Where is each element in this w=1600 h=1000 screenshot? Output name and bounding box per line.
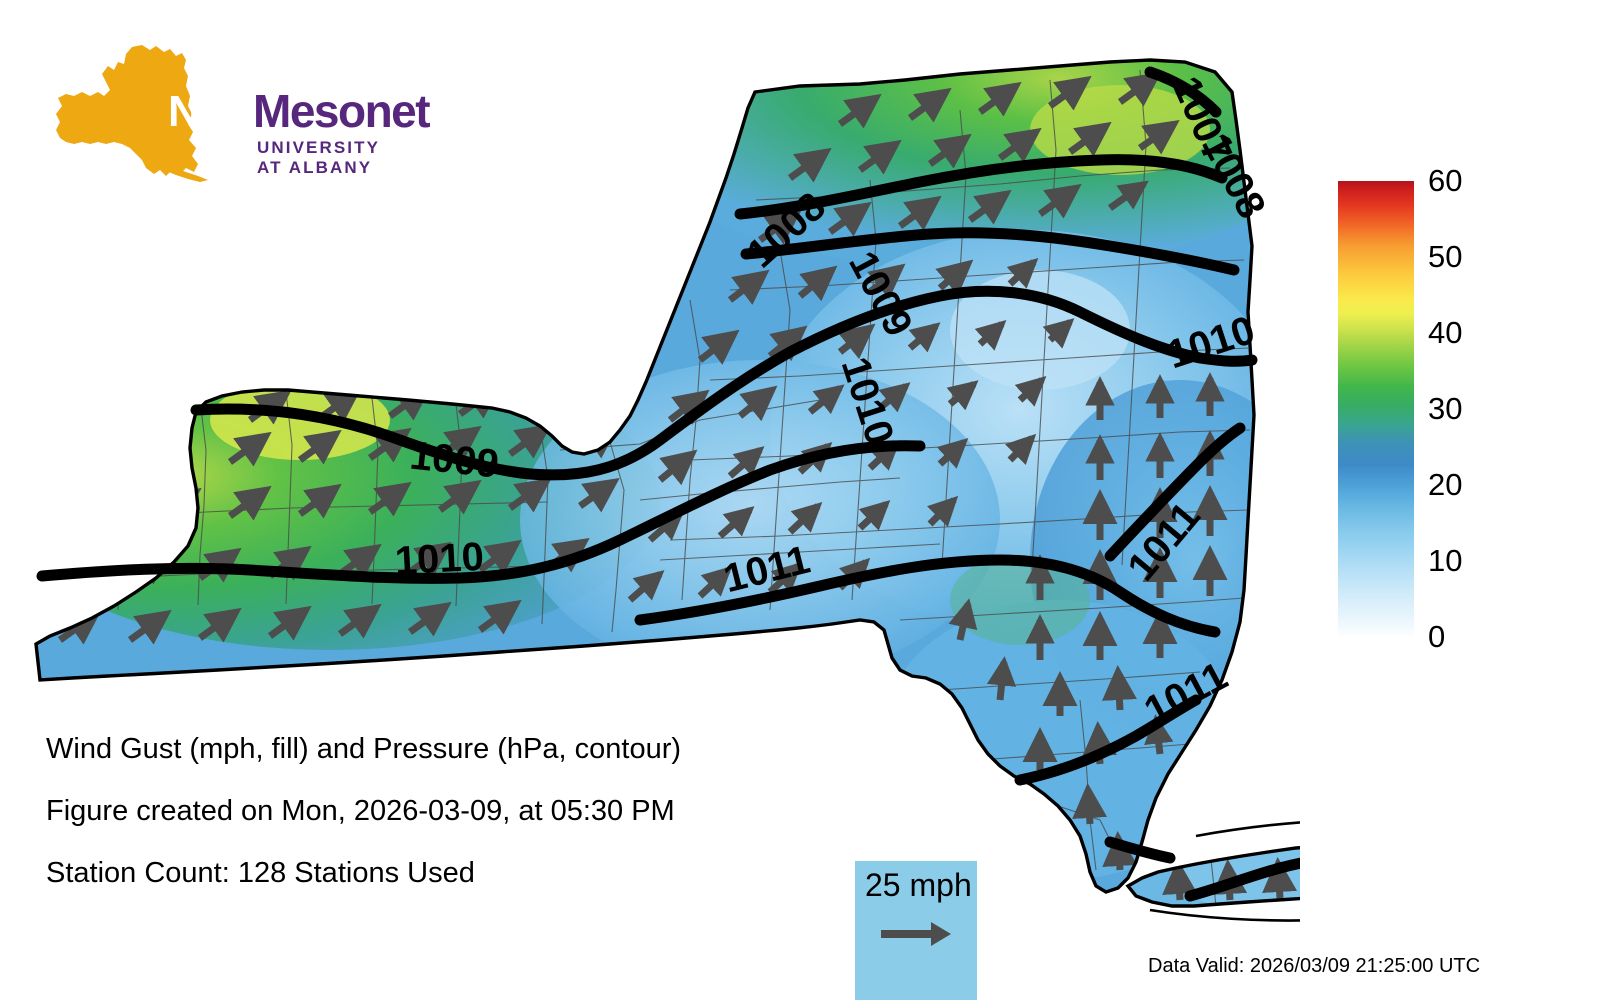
colorbar-tick-50: 50 — [1428, 241, 1462, 272]
logo-university-text: UNIVERSITY AT ALBANY — [257, 138, 406, 178]
colorbar-tick-0: 0 — [1428, 621, 1445, 652]
figure-caption-block: Wind Gust (mph, fill) and Pressure (hPa,… — [46, 718, 846, 904]
caption-created: Figure created on Mon, 2026-03-09, at 05… — [46, 780, 846, 842]
colorbar-tick-40: 40 — [1428, 317, 1462, 348]
wind-scale-label: 25 mph — [865, 867, 972, 904]
colorbar-tick-30: 30 — [1428, 393, 1462, 424]
contour-label-1010-west: 1010 — [394, 535, 485, 584]
colorbar-tick-60: 60 — [1428, 165, 1462, 196]
gust-colorbar — [1338, 181, 1414, 638]
logo-mesonet-text: Mesonet — [253, 84, 429, 138]
caption-station-count: Station Count: 128 Stations Used — [46, 842, 846, 904]
data-valid-timestamp: Data Valid: 2026/03/09 21:25:00 UTC — [1148, 955, 1480, 978]
colorbar-tick-labels: 60 50 40 30 20 10 0 — [1428, 160, 1518, 660]
logo-nys-text: NYS — [168, 87, 255, 137]
wind-scale-arrow-icon — [881, 919, 953, 949]
caption-title: Wind Gust (mph, fill) and Pressure (hPa,… — [46, 718, 846, 780]
contour-label-1009-west: 1009 — [408, 434, 501, 487]
colorbar-tick-20: 20 — [1428, 469, 1462, 500]
colorbar-tick-10: 10 — [1428, 545, 1462, 576]
wind-scale-legend: 25 mph — [855, 861, 977, 1000]
